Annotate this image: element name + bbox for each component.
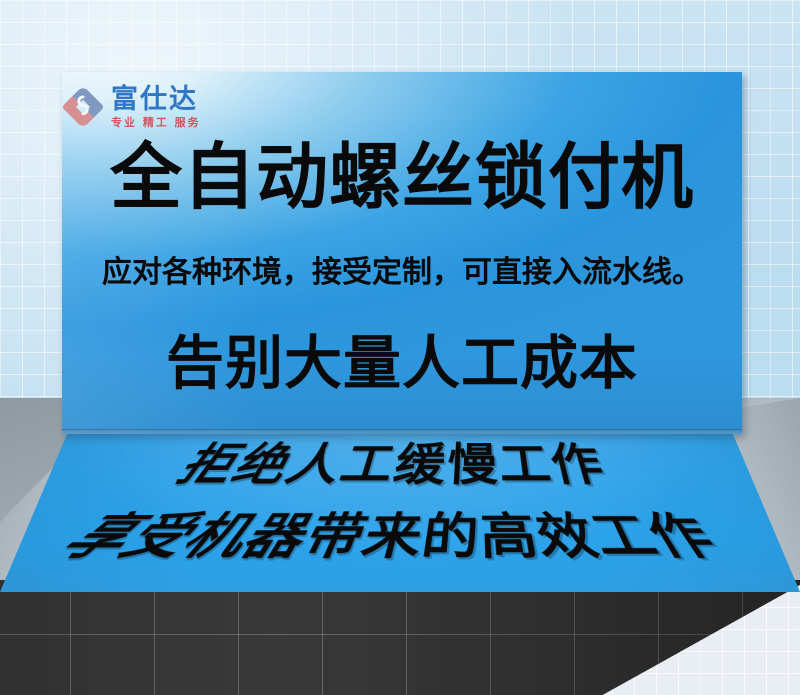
floor-text-line-1: 拒绝人工缓慢工作 xyxy=(0,443,800,488)
poster-tagline: 告别大量人工成本 xyxy=(62,334,742,392)
brand-logo-words: 富仕达 专业 精工 服务 xyxy=(111,86,201,128)
brand-logo: 富仕达 专业 精工 服务 xyxy=(62,86,201,128)
panel-fold-line xyxy=(62,429,742,434)
poster-subline: 应对各种环境，接受定制，可直接入流水线。 xyxy=(62,258,742,288)
brand-tagline: 专业 精工 服务 xyxy=(111,117,201,128)
poster-headline: 全自动螺丝锁付机 xyxy=(62,141,742,213)
fushida-diamond-s-logo-icon xyxy=(62,86,104,128)
brand-name: 富仕达 xyxy=(111,86,201,113)
poster-stage: 富仕达 专业 精工 服务 全自动螺丝锁付机 应对各种环境，接受定制，可直接入流水… xyxy=(0,0,800,695)
